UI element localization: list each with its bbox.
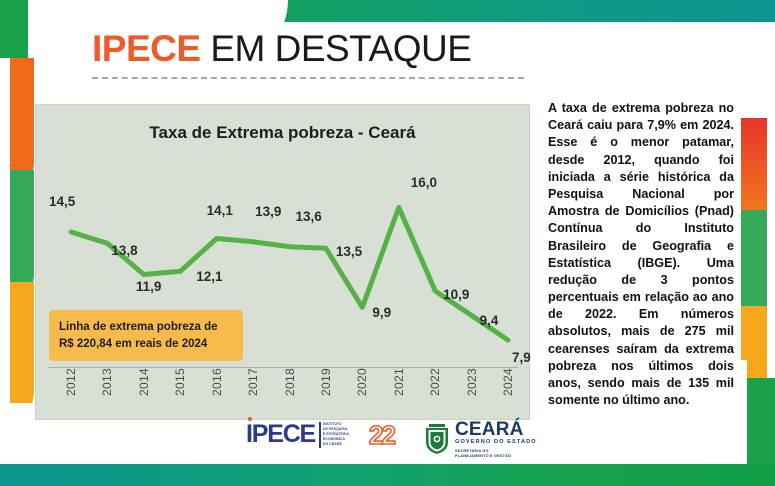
x-tick-2014: 2014: [137, 360, 151, 404]
ceara-logo-text: CEARÁ GOVERNO DO ESTADO SECRETARIA DO PL…: [455, 420, 537, 459]
x-tick-2013: 2013: [100, 360, 114, 404]
data-label-2014: 11,9: [136, 279, 162, 294]
page-title: IPECE EM DESTAQUE: [92, 30, 562, 67]
title-brand: IPECE: [92, 28, 201, 69]
left-stripe-orange: [0, 58, 34, 170]
left-color-stripes: [0, 58, 34, 403]
callout-line-2: R$ 220,84 em reais de 2024: [59, 336, 233, 353]
left-stripe-green: [0, 170, 34, 282]
x-tick-2018: 2018: [283, 360, 297, 404]
right-stripe-green: [741, 210, 775, 306]
x-tick-2023: 2023: [465, 360, 479, 404]
x-tick-2016: 2016: [210, 360, 224, 404]
data-label-2021: 16,0: [411, 175, 437, 190]
data-label-2015: 12,1: [196, 269, 222, 284]
callout-line-1: Linha de extrema pobreza de: [59, 319, 233, 336]
footer-logos: IPECE INSTITUTO DE PESQUISA E ESTRATÉGIA…: [246, 418, 556, 462]
ceara-government-logo: CEARÁ GOVERNO DO ESTADO SECRETARIA DO PL…: [424, 420, 537, 459]
ipece-logo-subtitle: INSTITUTO DE PESQUISA E ESTRATÉGIA ECONÔ…: [319, 422, 349, 448]
ipece-logo-text: IPECE: [246, 420, 315, 448]
x-tick-2024: 2024: [501, 360, 515, 404]
x-tick-2022: 2022: [428, 360, 442, 404]
data-label-2012: 14,5: [49, 194, 75, 209]
data-label-2016: 14,1: [207, 203, 233, 218]
x-tick-2020: 2020: [355, 360, 369, 404]
x-tick-2017: 2017: [246, 360, 260, 404]
left-stripe-amber: [0, 282, 34, 403]
ipece-em-destaque-infographic: IPECE EM DESTAQUE Taxa de Extrema pobrez…: [0, 0, 775, 486]
data-label-2017: 13,9: [255, 204, 281, 219]
ceara-coat-of-arms-icon: [424, 424, 450, 454]
anniversary-22-mark: 22: [369, 420, 394, 451]
data-label-2022: 10,9: [443, 287, 469, 302]
data-label-2019: 13,5: [336, 244, 362, 259]
x-tick-2015: 2015: [173, 360, 187, 404]
ipece-logo-wordmark: IPECE: [246, 422, 315, 447]
data-label-2013: 13,8: [111, 243, 137, 258]
x-tick-2012: 2012: [64, 360, 78, 404]
title-rest: EM DESTAQUE: [201, 28, 472, 69]
data-label-2018: 13,6: [296, 209, 322, 224]
poverty-line-callout: Linha de extrema pobreza de R$ 220,84 em…: [49, 310, 243, 361]
ceara-logo-name: CEARÁ: [455, 420, 537, 439]
right-stripe-red-orange: [741, 118, 775, 210]
x-tick-2019: 2019: [319, 360, 333, 404]
page-header: IPECE EM DESTAQUE: [92, 30, 562, 79]
ceara-logo-secretariat: SECRETARIA DO PLANEJAMENTO E GESTÃO: [455, 449, 537, 459]
title-dashed-rule: [92, 77, 524, 79]
chart-panel: Taxa de Extrema pobreza - Ceará 20122013…: [35, 104, 530, 420]
ipece-logo: IPECE INSTITUTO DE PESQUISA E ESTRATÉGIA…: [246, 422, 349, 448]
ceara-logo-government: GOVERNO DO ESTADO: [455, 440, 537, 446]
bottom-gradient-band: [0, 464, 775, 486]
x-tick-2021: 2021: [392, 360, 406, 404]
data-label-2020: 9,9: [372, 305, 391, 320]
x-axis-tick-labels: 2012201320142015201620172018201920202021…: [48, 373, 518, 417]
story-text: A taxa de extrema pobreza no Ceará caiu …: [548, 100, 734, 409]
data-label-2023: 9,4: [480, 313, 499, 328]
data-label-2024: 7,9: [512, 350, 531, 365]
